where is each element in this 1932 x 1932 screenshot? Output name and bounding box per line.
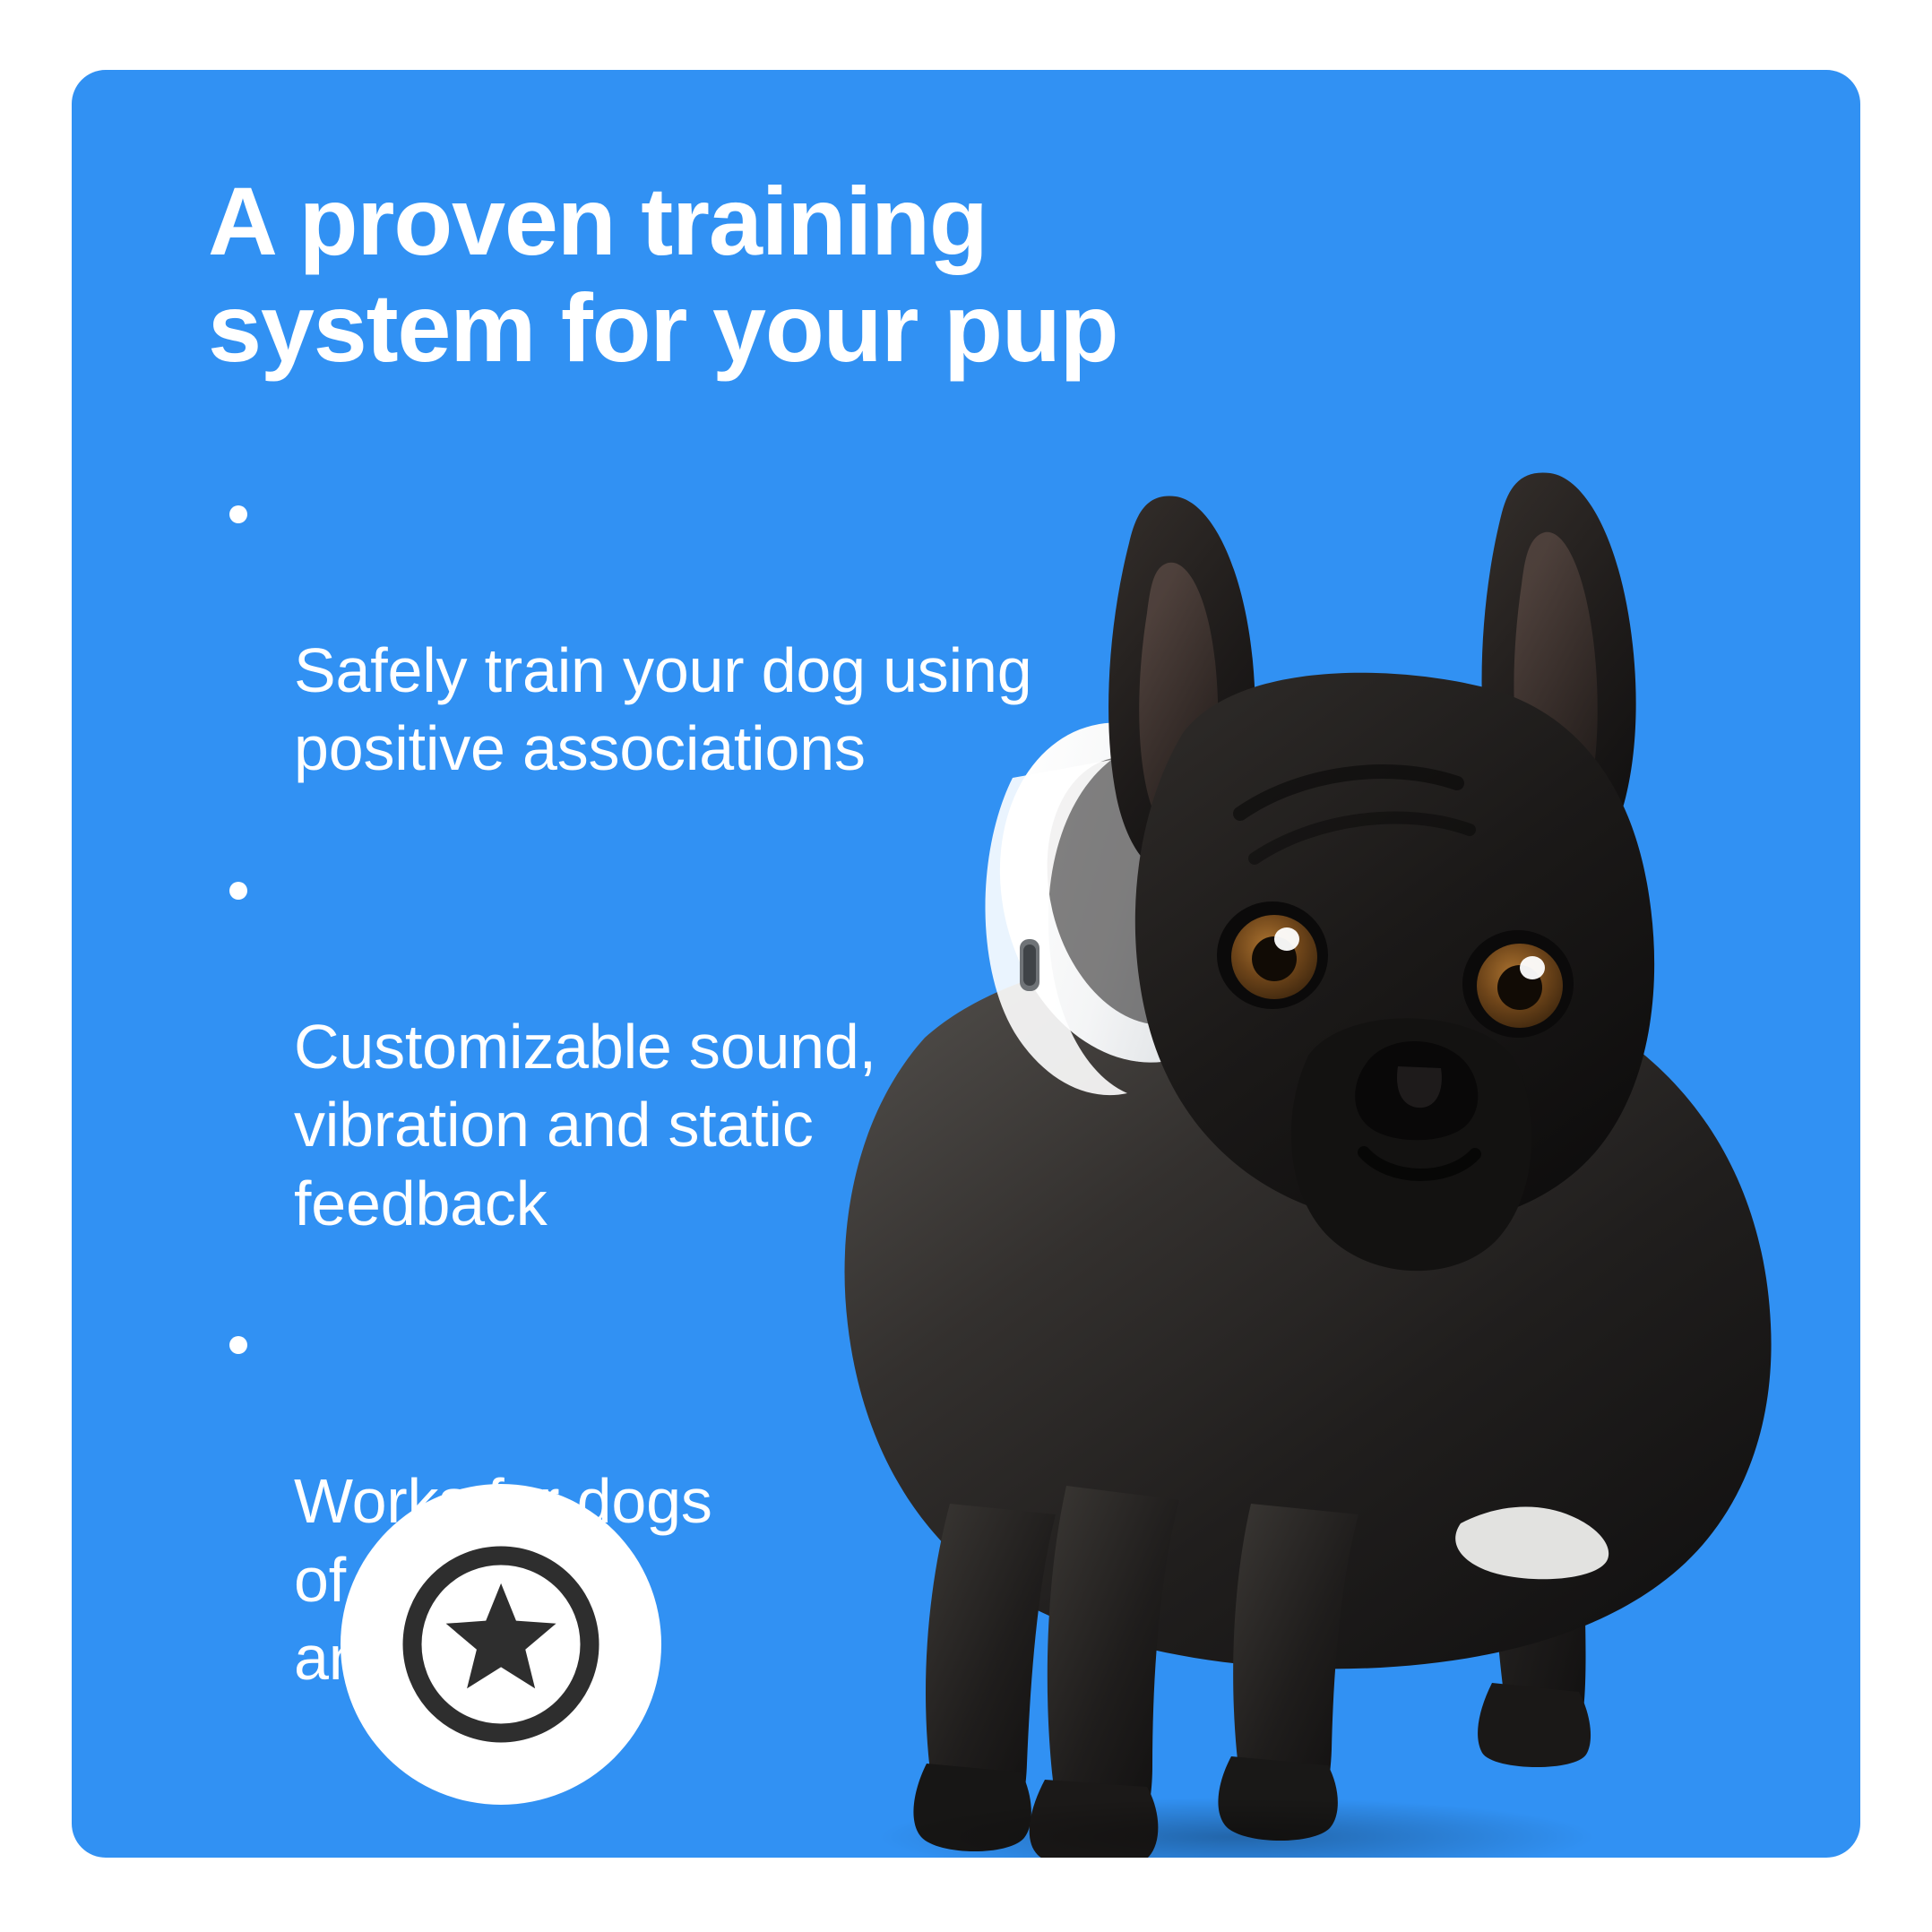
- dog-rear-legs: [1478, 1199, 1613, 1767]
- bullet-dot-icon: [229, 505, 247, 523]
- star-in-circle-icon: [397, 1540, 605, 1748]
- promo-card: A proven training system for your pup Sa…: [72, 70, 1860, 1858]
- brand-badge: [341, 1484, 661, 1805]
- page-title: A proven training system for your pup: [208, 168, 1176, 382]
- list-item: Customizable sound, vibration and static…: [208, 851, 1176, 1244]
- list-item-label: Customizable sound, vibration and static…: [294, 1012, 876, 1238]
- text-column: A proven training system for your pup Sa…: [208, 168, 1176, 1698]
- dog-eyes: [1217, 901, 1574, 1038]
- dog-muzzle: [1291, 1018, 1531, 1271]
- bullet-dot-icon: [229, 1336, 247, 1354]
- dog-ears: [1108, 472, 1636, 878]
- dog-chest-patch: [1455, 1507, 1609, 1580]
- list-item: Safely train your dog using positive ass…: [208, 475, 1176, 789]
- dog-head: [1135, 673, 1654, 1226]
- list-item-label: Safely train your dog using positive ass…: [294, 635, 1031, 784]
- bullet-dot-icon: [229, 882, 247, 900]
- feature-bullet-list: Safely train your dog using positive ass…: [208, 475, 1176, 1698]
